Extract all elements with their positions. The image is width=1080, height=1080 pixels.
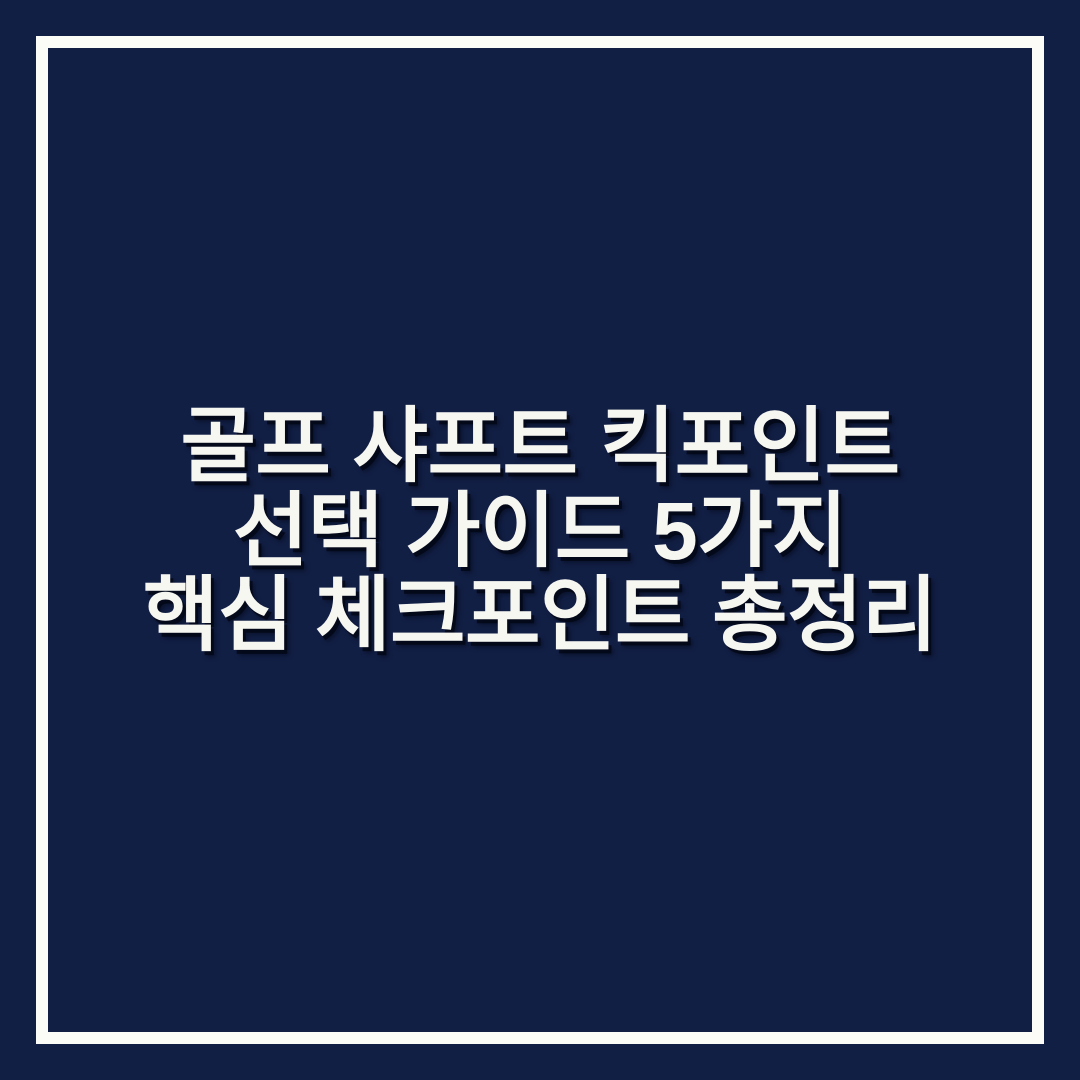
headline-line-2: 선택 가이드 5가지	[0, 490, 1080, 574]
headline-line-3: 핵심 체크포인트 총정리	[0, 574, 1080, 658]
headline-line-1: 골프 샤프트 킥포인트	[0, 405, 1080, 489]
headline-block: 골프 샤프트 킥포인트 선택 가이드 5가지 핵심 체크포인트 총정리	[0, 0, 1080, 1080]
thumbnail-card: 골프 샤프트 킥포인트 선택 가이드 5가지 핵심 체크포인트 총정리	[0, 0, 1080, 1080]
